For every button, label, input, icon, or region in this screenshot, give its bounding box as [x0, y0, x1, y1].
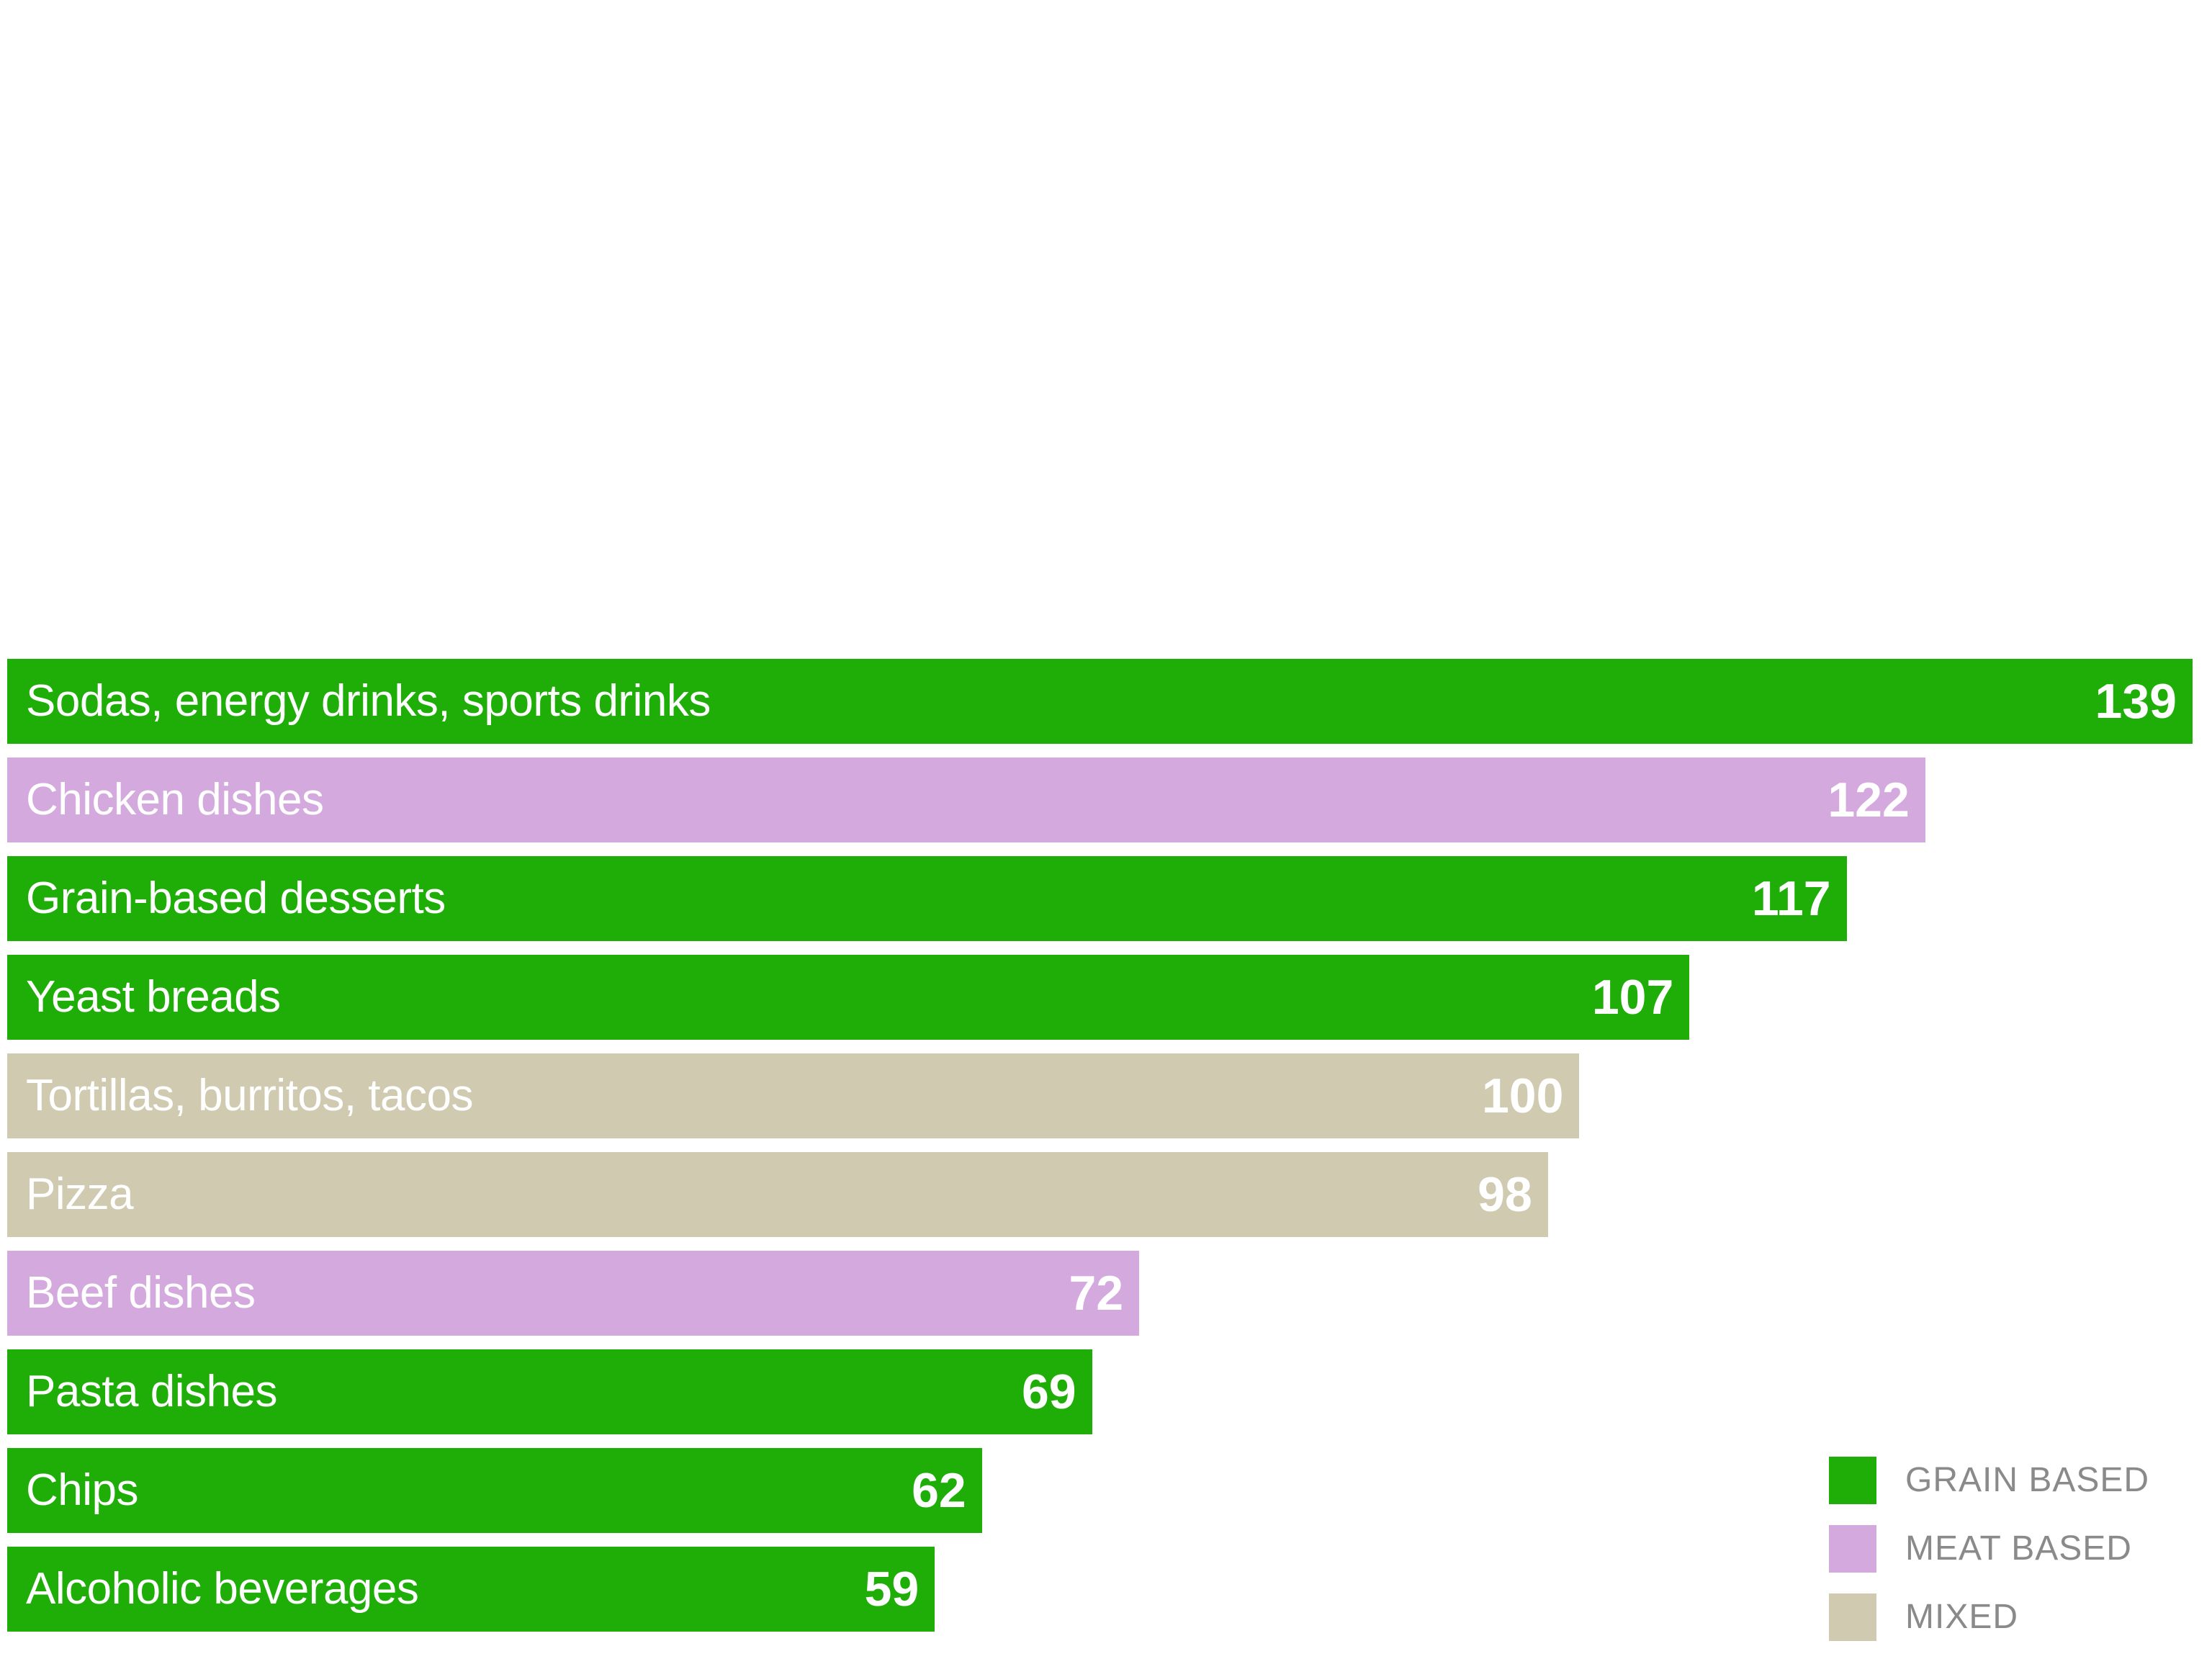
horizontal-bar-chart: 139Sodas, energy drinks, sports drinks12…	[0, 0, 2212, 1659]
bar-row: 98Pizza	[7, 1152, 2205, 1237]
legend-item-grain: GRAIN BASED	[1829, 1446, 2212, 1514]
bar-value: 98	[1478, 1170, 1532, 1219]
legend-item-mixed: MIXED	[1829, 1583, 2212, 1651]
bar-value: 139	[2095, 677, 2177, 726]
legend-label: MEAT BASED	[1905, 1532, 2132, 1566]
bar-category-label: Alcoholic beverages	[26, 1567, 418, 1611]
bar-value: 59	[865, 1565, 920, 1614]
bar-value: 72	[1069, 1269, 1123, 1318]
bar-category-label: Grain-based desserts	[26, 876, 446, 921]
bar-row: 72Beef dishes	[7, 1251, 2205, 1336]
bar-value: 62	[912, 1466, 966, 1515]
bar-category-label: Beef dishes	[26, 1271, 256, 1316]
bar-value: 107	[1592, 973, 1673, 1022]
bar-value: 100	[1482, 1071, 1563, 1120]
bar-row: 107Yeast breads	[7, 955, 2205, 1040]
legend-item-meat: MEAT BASED	[1829, 1514, 2212, 1583]
bar-value: 69	[1022, 1367, 1076, 1416]
bar-row: 117Grain-based desserts	[7, 856, 2205, 941]
legend-label: GRAIN BASED	[1905, 1463, 2149, 1498]
chart-legend: GRAIN BASEDMEAT BASEDMIXED	[1829, 1446, 2212, 1651]
bar-category-label: Yeast breads	[26, 975, 281, 1020]
bar-category-label: Pasta dishes	[26, 1370, 277, 1414]
bar-category-label: Chips	[26, 1468, 138, 1513]
legend-swatch-icon	[1829, 1457, 1876, 1504]
legend-swatch-icon	[1829, 1593, 1876, 1641]
bar-row: 122Chicken dishes	[7, 757, 2205, 842]
bar-row: 139Sodas, energy drinks, sports drinks	[7, 659, 2205, 744]
bar-mixed: 98	[7, 1152, 1548, 1237]
bar-category-label: Sodas, energy drinks, sports drinks	[26, 679, 711, 724]
bar-value: 122	[1827, 775, 1909, 824]
bar-category-label: Tortillas, burritos, tacos	[26, 1074, 473, 1118]
legend-swatch-icon	[1829, 1525, 1876, 1573]
bar-grain: 62	[7, 1448, 982, 1533]
bar-category-label: Chicken dishes	[26, 778, 323, 822]
bar-row: 100Tortillas, burritos, tacos	[7, 1053, 2205, 1138]
bar-category-label: Pizza	[26, 1172, 133, 1217]
legend-label: MIXED	[1905, 1600, 2018, 1635]
bar-value: 117	[1752, 874, 1831, 923]
bar-row: 69Pasta dishes	[7, 1349, 2205, 1434]
